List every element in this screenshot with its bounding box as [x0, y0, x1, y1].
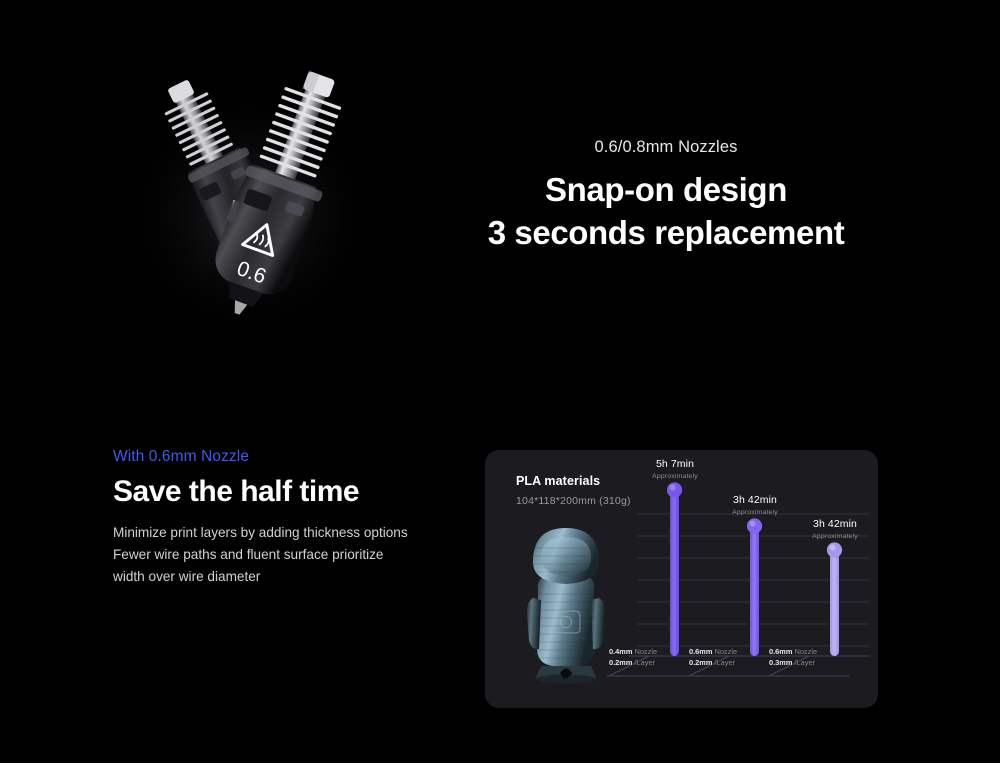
card-heading: PLA materials 104*118*200mm (310g): [516, 474, 631, 507]
feature-body-line-1: Minimize print layers by adding thicknes…: [113, 522, 463, 544]
bar-label-3: 3h 42min Approximately: [780, 518, 890, 540]
bar-label-1: 5h 7min Approximately: [620, 458, 730, 480]
axis-group-2: 0.6mm Nozzle 0.2mm /Layer: [689, 646, 775, 669]
feature-headline: Save the half time: [113, 475, 463, 509]
axis-group-3: 0.6mm Nozzle 0.3mm /Layer: [769, 646, 855, 669]
dual-nozzle-assembly-photo: 0.8: [118, 44, 380, 344]
bar-value-1: 5h 7min: [620, 458, 730, 470]
feature-text-block: With 0.6mm Nozzle Save the half time Min…: [113, 448, 463, 588]
bar-value-3: 3h 42min: [780, 518, 890, 530]
axis-layer-2: 0.2mm /Layer: [689, 657, 775, 668]
feature-body-line-3: width over wire diameter: [113, 566, 463, 588]
hero-text-block: 0.6/0.8mm Nozzles Snap-on design 3 secon…: [466, 138, 866, 254]
axis-layer-3: 0.3mm /Layer: [769, 657, 855, 668]
bar-label-2: 3h 42min Approximately: [700, 494, 810, 516]
axis-group-1: 0.4mm Nozzle 0.2mm /Layer: [609, 646, 695, 669]
hero-title-line-2: 3 seconds replacement: [466, 211, 866, 254]
feature-accent-label: With 0.6mm Nozzle: [113, 448, 463, 466]
chart-axis-labels: 0.4mm Nozzle 0.2mm /Layer 0.6mm Nozzle 0…: [609, 646, 869, 686]
bar-approx-2: Approximately: [700, 509, 810, 516]
feature-body-copy: Minimize print layers by adding thicknes…: [113, 522, 463, 588]
axis-nozzle-2: 0.6mm Nozzle: [689, 646, 775, 657]
card-subtitle: 104*118*200mm (310g): [516, 495, 631, 507]
print-time-comparison-card: PLA materials 104*118*200mm (310g): [485, 450, 878, 708]
bar-approx-3: Approximately: [780, 533, 890, 540]
axis-layer-1: 0.2mm /Layer: [609, 657, 695, 668]
bar-value-2: 3h 42min: [700, 494, 810, 506]
product-feature-page: 0.8: [0, 0, 1000, 763]
bar-approx-1: Approximately: [620, 473, 730, 480]
card-title: PLA materials: [516, 474, 631, 488]
feature-body-line-2: Fewer wire paths and fluent surface prio…: [113, 544, 463, 566]
hero-eyebrow: 0.6/0.8mm Nozzles: [466, 138, 866, 157]
axis-nozzle-3: 0.6mm Nozzle: [769, 646, 855, 657]
axis-nozzle-1: 0.4mm Nozzle: [609, 646, 695, 657]
hero-title-line-1: Snap-on design: [466, 168, 866, 211]
hero-section: 0.8: [0, 0, 1000, 420]
